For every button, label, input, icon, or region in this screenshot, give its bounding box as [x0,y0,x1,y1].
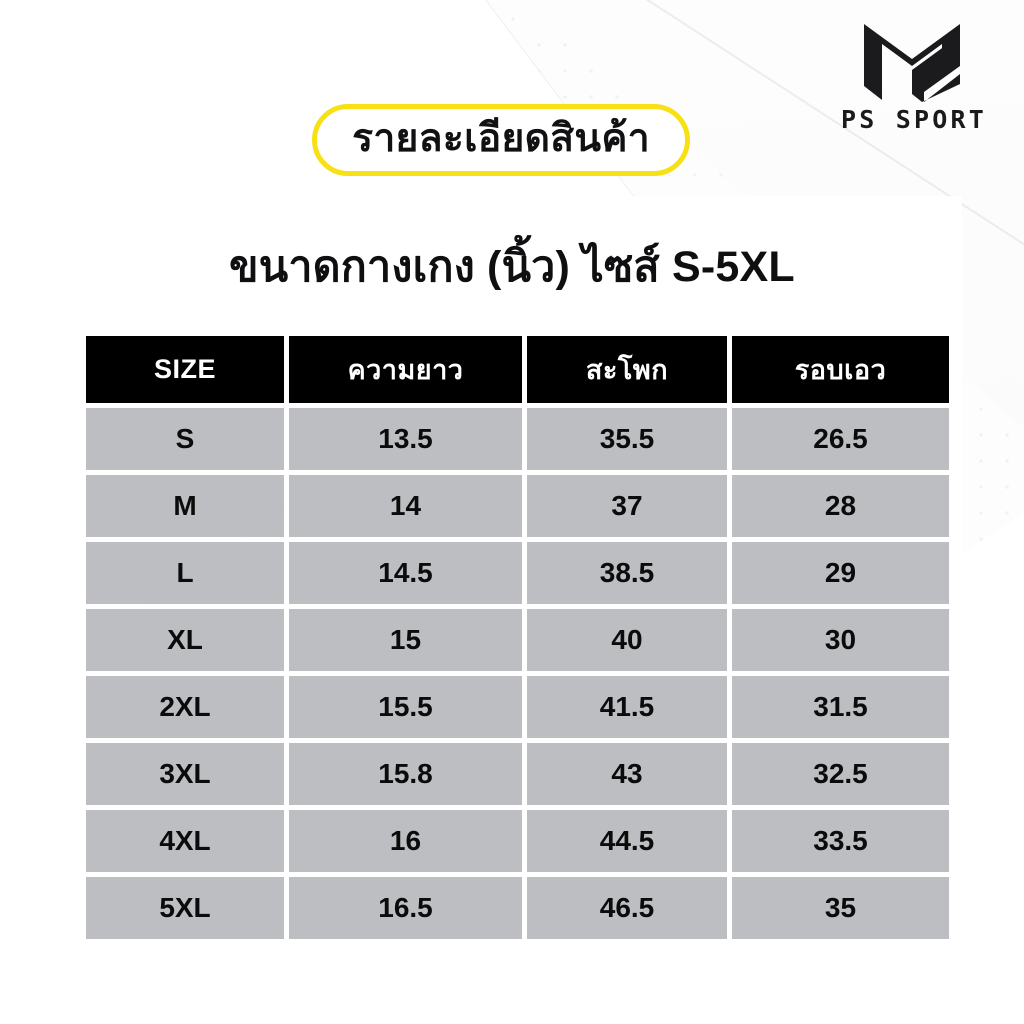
brand-logo: PS SPORT [830,22,998,132]
page-title: ขนาดกางเกง (นิ้ว) ไซส์ S-5XL [0,232,1024,300]
size-cell: L [86,542,284,604]
size-cell: XL [86,609,284,671]
column-header-waist: รอบเอว [732,336,949,403]
size-cell: 3XL [86,743,284,805]
hip-cell: 40 [527,609,727,671]
hip-cell: 43 [527,743,727,805]
size-cell: 2XL [86,676,284,738]
hip-cell: 41.5 [527,676,727,738]
table-row: 4XL1644.533.5 [86,810,949,872]
table-row: L14.538.529 [86,542,949,604]
table-header-row: SIZE ความยาว สะโพก รอบเอว [86,336,949,403]
section-badge-label: รายละเอียดสินค้า [352,119,650,162]
size-chart-page: PS SPORT รายละเอียดสินค้า ขนาดกางเกง (นิ… [0,0,1024,1024]
length-cell: 15.8 [289,743,522,805]
hip-cell: 38.5 [527,542,727,604]
table-header: SIZE ความยาว สะโพก รอบเอว [86,336,949,403]
table-row: 3XL15.84332.5 [86,743,949,805]
size-cell: S [86,408,284,470]
table-row: M143728 [86,475,949,537]
column-header-size: SIZE [86,336,284,403]
table-row: 2XL15.541.531.5 [86,676,949,738]
length-cell: 14 [289,475,522,537]
table-row: S13.535.526.5 [86,408,949,470]
table-row: 5XL16.546.535 [86,877,949,939]
waist-cell: 31.5 [732,676,949,738]
waist-cell: 35 [732,877,949,939]
brand-name: PS SPORT [830,107,998,132]
hip-cell: 44.5 [527,810,727,872]
waist-cell: 28 [732,475,949,537]
table-row: XL154030 [86,609,949,671]
hip-cell: 35.5 [527,408,727,470]
column-header-hip: สะโพก [527,336,727,403]
length-cell: 15.5 [289,676,522,738]
table-body: S13.535.526.5M143728L14.538.529XL1540302… [86,408,949,939]
length-cell: 15 [289,609,522,671]
waist-cell: 32.5 [732,743,949,805]
section-badge: รายละเอียดสินค้า [312,104,690,176]
size-cell: 4XL [86,810,284,872]
size-cell: M [86,475,284,537]
hip-cell: 37 [527,475,727,537]
column-header-length: ความยาว [289,336,522,403]
size-chart-table: SIZE ความยาว สะโพก รอบเอว S13.535.526.5M… [81,331,954,944]
length-cell: 14.5 [289,542,522,604]
length-cell: 16.5 [289,877,522,939]
waist-cell: 29 [732,542,949,604]
waist-cell: 30 [732,609,949,671]
waist-cell: 33.5 [732,810,949,872]
hip-cell: 46.5 [527,877,727,939]
length-cell: 16 [289,810,522,872]
size-cell: 5XL [86,877,284,939]
length-cell: 13.5 [289,408,522,470]
waist-cell: 26.5 [732,408,949,470]
ps-monogram-icon [862,22,966,104]
